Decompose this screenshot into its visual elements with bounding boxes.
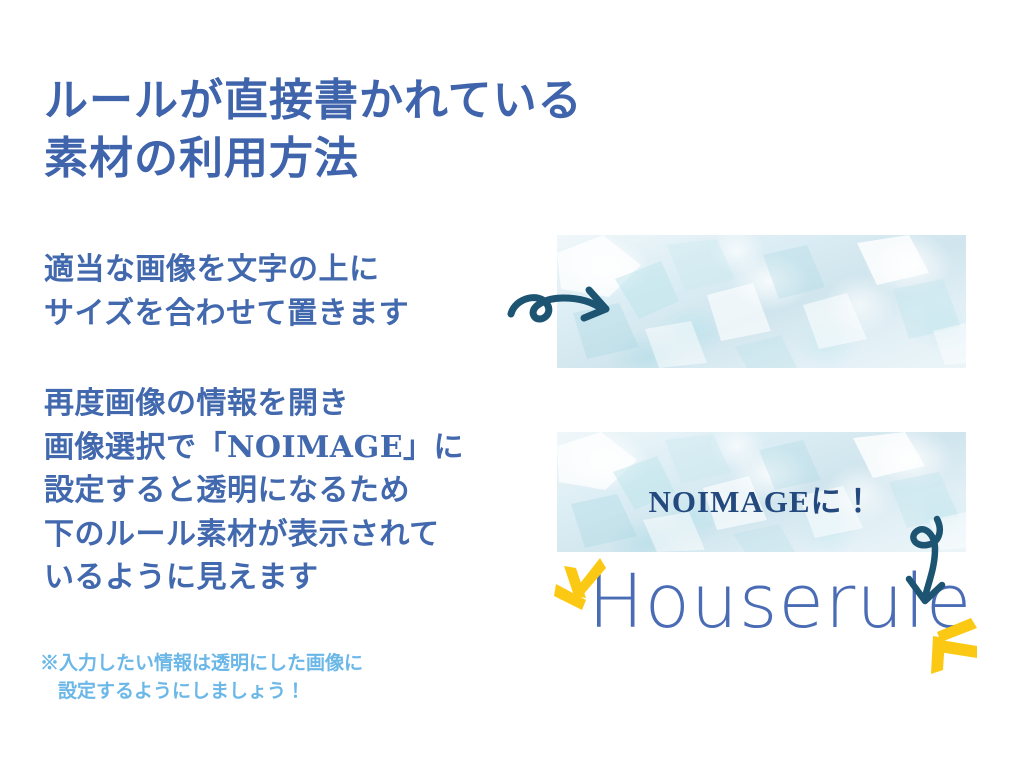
footnote-line-2: 設定するようにしましょう！ — [40, 677, 470, 706]
sparkle-icon — [915, 612, 983, 684]
footnote-line-1: ※入力したい情報は透明にした画像に — [40, 652, 363, 674]
page-title: ルールが直接書かれている 素材の利用方法 — [44, 72, 744, 188]
curly-arrow-right-icon — [505, 278, 625, 334]
curly-arrow-down-icon — [895, 515, 957, 611]
body-paragraph-1: 適当な画像を文字の上に サイズを合わせて置きます — [44, 248, 514, 335]
noimage-caption: NOIMAGEに！ — [557, 476, 966, 521]
slide-canvas: ルールが直接書かれている 素材の利用方法 適当な画像を文字の上に サイズを合わせ… — [0, 0, 1024, 768]
footnote: ※入力したい情報は透明にした画像に 設定するようにしましょう！ — [40, 620, 470, 734]
sparkle-icon — [552, 556, 614, 618]
body-paragraph-2: 再度画像の情報を開き 画像選択で「NOIMAGE」に 設定すると透明になるため … — [44, 382, 544, 600]
